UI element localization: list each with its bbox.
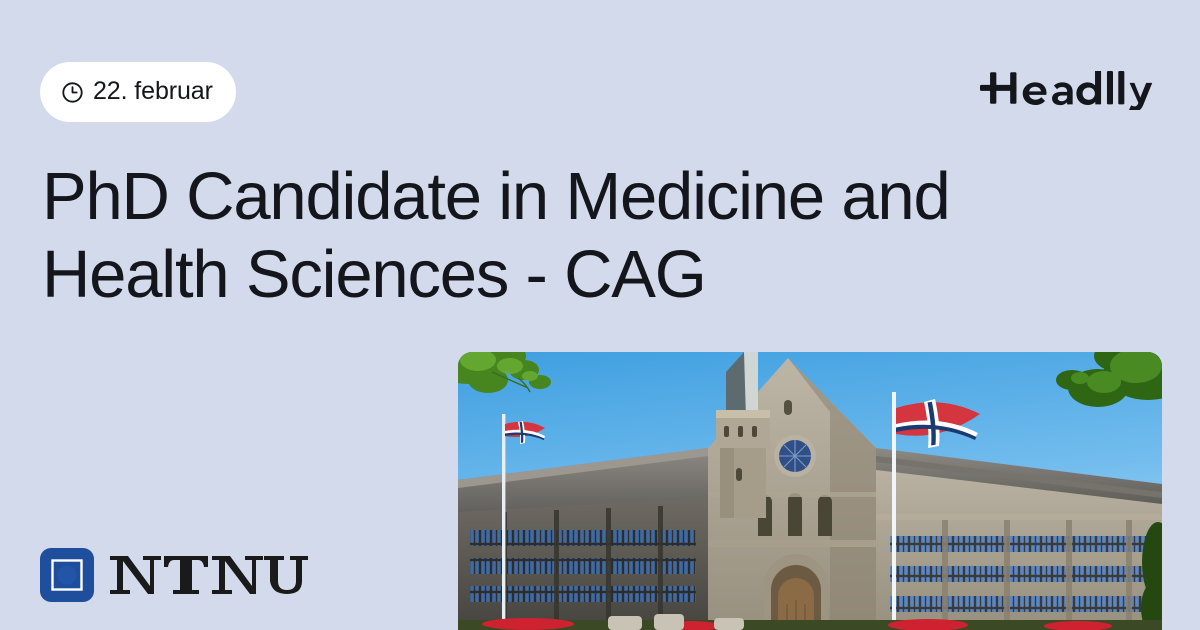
page-title: PhD Candidate in Medicine and Health Sci… bbox=[42, 158, 1117, 314]
date-badge: 22. februar bbox=[40, 62, 236, 122]
article-image bbox=[458, 352, 1162, 630]
header-bar: 22. februar bbox=[0, 0, 1200, 150]
headly-wordmark-icon bbox=[980, 66, 1162, 110]
share-card: 22. februar bbox=[0, 0, 1200, 630]
clock-icon bbox=[61, 81, 84, 104]
date-text: 22. februar bbox=[93, 79, 213, 106]
ntnu-mark-icon bbox=[40, 548, 94, 602]
ntnu-logo bbox=[40, 548, 318, 602]
headly-logo[interactable] bbox=[980, 66, 1162, 110]
ntnu-main-building-photo bbox=[458, 352, 1162, 630]
ntnu-wordmark-icon bbox=[108, 548, 318, 602]
